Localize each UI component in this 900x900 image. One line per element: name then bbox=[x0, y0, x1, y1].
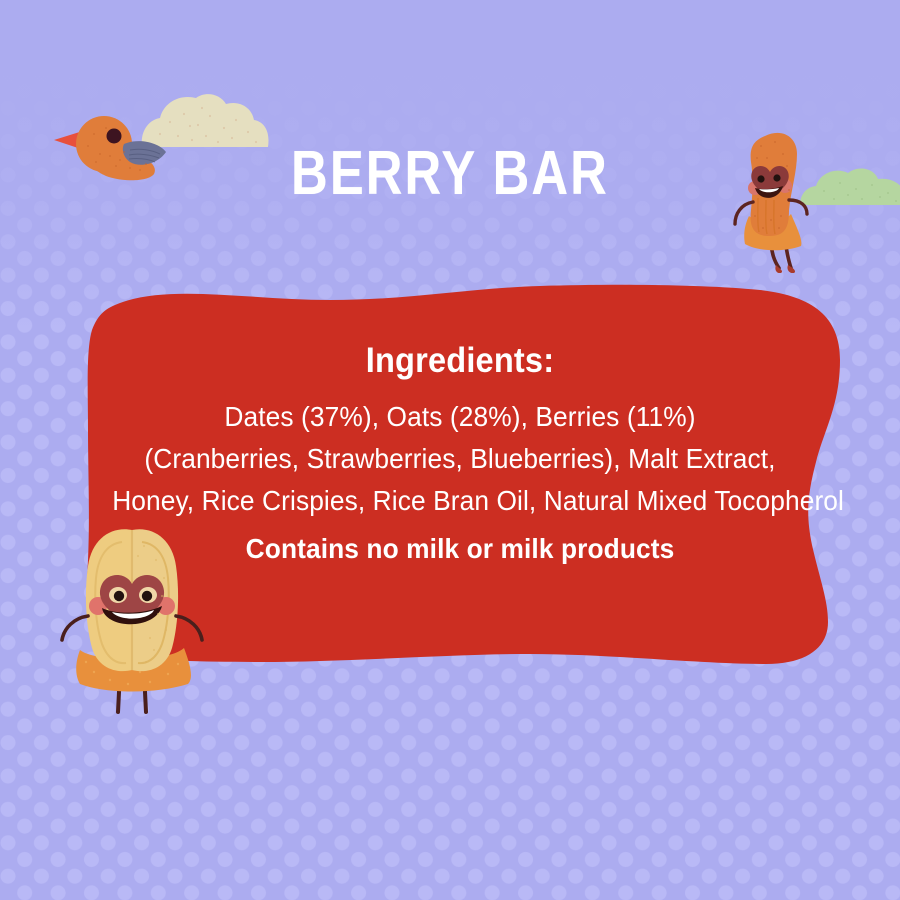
ingredients-text-block: Ingredients: Dates (37%), Oats (28%), Be… bbox=[90, 340, 830, 570]
ingredients-line-1: Dates (37%), Oats (28%), Berries (11%) bbox=[112, 396, 808, 438]
ingredients-line-3: Honey, Rice Crispies, Rice Bran Oil, Nat… bbox=[112, 480, 808, 522]
milk-free-note: Contains no milk or milk products bbox=[112, 528, 808, 570]
ingredients-line-2: (Cranberries, Strawberries, Blueberries)… bbox=[112, 438, 808, 480]
ingredients-heading: Ingredients: bbox=[116, 340, 804, 382]
page-title: BERRY BAR bbox=[81, 143, 819, 205]
berry-bar-poster: Ingredients: Dates (37%), Oats (28%), Be… bbox=[0, 0, 900, 900]
